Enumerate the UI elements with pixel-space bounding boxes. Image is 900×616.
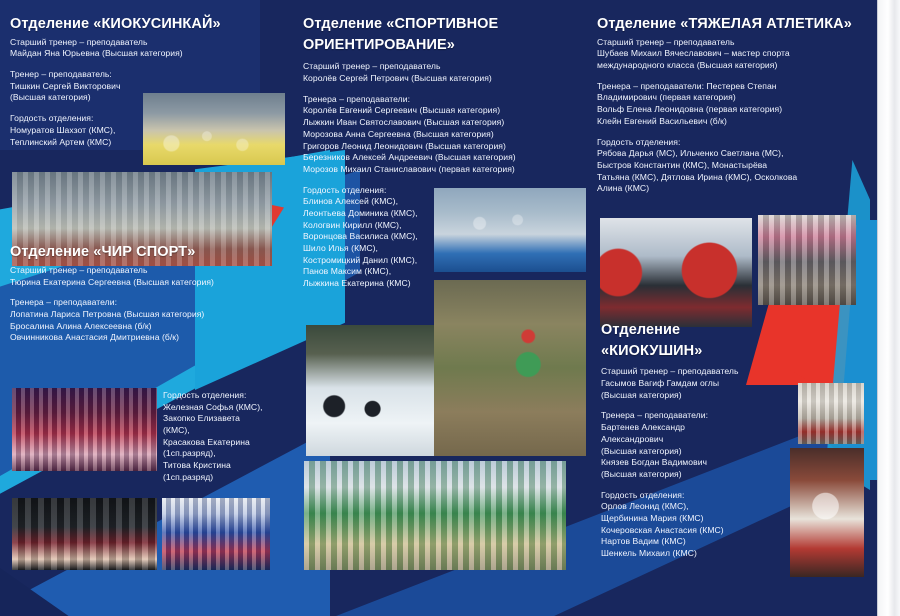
text-line: Тренера – преподаватели: Пестерев Степан bbox=[597, 81, 877, 93]
photo-cheer-blue bbox=[162, 498, 270, 570]
text-line: Тренера – преподаватели: bbox=[601, 410, 751, 422]
section-title-weightlifting: Отделение «ТЯЖЕЛАЯ АТЛЕТИКА» bbox=[597, 16, 877, 34]
text-line: Теплинский Артем (КМС) bbox=[10, 137, 285, 149]
text-line: Быстров Константин (КМС), Монастырёва bbox=[597, 160, 877, 172]
text-line: Алина (КМС) bbox=[597, 183, 877, 195]
text-line: Тренер – преподаватель: bbox=[10, 69, 285, 81]
text-line: Владимирович (первая категория) bbox=[597, 92, 877, 104]
text-line: Александрович bbox=[601, 434, 751, 446]
text-line: Тренера – преподаватели: bbox=[303, 94, 578, 106]
pride-block-kyokushin: Гордость отделения: Орлов Леонид (КМС), … bbox=[601, 490, 791, 560]
text-line: Гордость отделения: bbox=[10, 113, 285, 125]
text-line: международного класса (Высшая категория) bbox=[597, 60, 877, 72]
text-line: Панов Максим (КМС), bbox=[303, 266, 431, 278]
coaches-block-sport-orienteering: Тренера – преподаватели: Королёв Евгений… bbox=[303, 94, 578, 176]
text-line: Шило Илья (КМС), bbox=[303, 243, 431, 255]
text-line: Гордость отделения: bbox=[597, 137, 877, 149]
text-line: Красакова Екатерина bbox=[163, 437, 293, 449]
pride-block-cheer-sport: Гордость отделения: Железная Софья (КМС)… bbox=[163, 390, 293, 484]
head-coach-block-kyokushin: Старший тренер – преподаватель Гасымов В… bbox=[601, 366, 806, 401]
text-line: Морозова Анна Сергеевна (Высшая категори… bbox=[303, 129, 578, 141]
head-coach-block-sport-orienteering: Старший тренер – преподаватель Королёв С… bbox=[303, 61, 578, 84]
text-line: Королёв Евгений Сергеевич (Высшая катего… bbox=[303, 105, 578, 117]
text-line: Майдан Яна Юрьевна (Высшая категория) bbox=[10, 48, 285, 60]
text-line: Королёв Сергей Петрович (Высшая категори… bbox=[303, 73, 578, 85]
coaches-block-cheer-sport: Тренера – преподаватели: Лопатина Лариса… bbox=[10, 297, 285, 344]
column-middle: Отделение «СПОРТИВНОЕ ОРИЕНТИРОВАНИЕ» Ст… bbox=[303, 16, 578, 299]
text-line: Татьяна (КМС), Дятлова Ирина (КМС), Оско… bbox=[597, 172, 877, 184]
text-line: Блинов Алексей (КМС), bbox=[303, 196, 431, 208]
text-line: Тренера – преподаватели: bbox=[10, 297, 285, 309]
text-line: Клейн Евгений Васильевич (б/к) bbox=[597, 116, 877, 128]
text-line: Орлов Леонид (КМС), bbox=[601, 501, 791, 513]
text-line: Рябова Дарья (МС), Ильченко Светлана (МС… bbox=[597, 148, 877, 160]
photo-kyokushin-hall bbox=[798, 383, 864, 444]
photo-weightlifting-group bbox=[758, 215, 856, 305]
text-line: (1сп.разряд), bbox=[163, 448, 293, 460]
text-line: (Высшая категория) bbox=[601, 390, 806, 402]
pride-block-weightlifting: Гордость отделения: Рябова Дарья (МС), И… bbox=[597, 137, 877, 195]
section-title-sport-orienteering-line1: Отделение «СПОРТИВНОЕ bbox=[303, 16, 578, 34]
photo-orient-ski bbox=[306, 325, 434, 456]
text-line: Князев Богдан Вадимович bbox=[601, 457, 751, 469]
text-line: Титова Кристина bbox=[163, 460, 293, 472]
coaches-block-kyokushin: Тренера – преподаватели: Бартенев Алекса… bbox=[601, 410, 751, 480]
text-line: Старший тренер – преподаватель bbox=[303, 61, 578, 73]
section-title-sport-orienteering-line2: ОРИЕНТИРОВАНИЕ» bbox=[303, 37, 578, 55]
photo-weightlifting bbox=[600, 218, 752, 327]
text-line: Номуратов Шахзот (КМС), bbox=[10, 125, 285, 137]
text-line: (Высшая категория) bbox=[601, 446, 751, 458]
text-line: Гордость отделения: bbox=[601, 490, 791, 502]
section-weightlifting: Отделение «ТЯЖЕЛАЯ АТЛЕТИКА» Старший тре… bbox=[597, 16, 877, 195]
text-line: (1сп.разряд) bbox=[163, 472, 293, 484]
text-line: Нартов Вадим (КМС) bbox=[601, 536, 791, 548]
text-line: (Высшая категория) bbox=[10, 92, 285, 104]
brochure-page: Отделение «КИОКУСИНКАЙ» Старший тренер –… bbox=[0, 0, 900, 616]
section-title-kyokushin-line2: «КИОКУШИН» bbox=[601, 343, 806, 361]
text-line: Бросалина Алина Алексеевна (б/к) bbox=[10, 321, 285, 333]
section-cheer-sport: Отделение «ЧИР СПОРТ» Старший тренер – п… bbox=[10, 244, 285, 344]
text-line: Старший тренер – преподаватель bbox=[597, 37, 877, 49]
text-line: (Высшая категория) bbox=[601, 469, 751, 481]
coaches-block-weightlifting: Тренера – преподаватели: Пестерев Степан… bbox=[597, 81, 877, 128]
text-line: Кологвин Кирилл (КМС), bbox=[303, 220, 431, 232]
column-right: Отделение «ТЯЖЕЛАЯ АТЛЕТИКА» Старший тре… bbox=[597, 16, 877, 204]
text-line: Шенкель Михаил (КМС) bbox=[601, 548, 791, 560]
text-line: Костромицкий Данил (КМС), bbox=[303, 255, 431, 267]
photo-orient-runner bbox=[434, 280, 586, 456]
text-line: Леонтьева Доминика (КМС), bbox=[303, 208, 431, 220]
text-line: (КМС), bbox=[163, 425, 293, 437]
text-line: Лопатина Лариса Петровна (Высшая категор… bbox=[10, 309, 285, 321]
text-line: Лыжкина Екатерина (КМС) bbox=[303, 278, 431, 290]
section-kyokushinkai: Отделение «КИОКУСИНКАЙ» Старший тренер –… bbox=[10, 16, 285, 148]
head-coach-block-kyokushinkai: Старший тренер – преподаватель Майдан Ян… bbox=[10, 37, 285, 60]
text-line: Старший тренер – преподаватель bbox=[10, 37, 285, 49]
text-line: Шубаев Михаил Вячеславович – мастер спор… bbox=[597, 48, 877, 60]
text-line: Бартенев Александр bbox=[601, 422, 751, 434]
section-title-cheer-sport: Отделение «ЧИР СПОРТ» bbox=[10, 244, 285, 262]
text-line: Григоров Леонид Леонидович (Высшая катег… bbox=[303, 141, 578, 153]
photo-cheer-dark bbox=[12, 498, 157, 570]
coaches-block-kyokushinkai: Тренер – преподаватель: Тишкин Сергей Ви… bbox=[10, 69, 285, 104]
text-line: Гордость отделения: bbox=[303, 185, 431, 197]
text-line: Железная Софья (КМС), bbox=[163, 402, 293, 414]
pride-block-sport-orienteering: Гордость отделения: Блинов Алексей (КМС)… bbox=[303, 185, 431, 290]
text-line: Тишкин Сергей Викторович bbox=[10, 81, 285, 93]
text-line: Щербинина Мария (КМС) bbox=[601, 513, 791, 525]
text-line: Вольф Елена Леонидовна (первая категория… bbox=[597, 104, 877, 116]
pride-block-kyokushinkai: Гордость отделения: Номуратов Шахзот (КМ… bbox=[10, 113, 285, 148]
page-edge-strip bbox=[878, 0, 900, 616]
text-line: Кочеровская Анастасия (КМС) bbox=[601, 525, 791, 537]
text-line: Овчинникова Анастасия Дмитриевна (б/к) bbox=[10, 332, 285, 344]
text-line: Березников Алексей Андреевич (Высшая кат… bbox=[303, 152, 578, 164]
text-line: Гордость отделения: bbox=[163, 390, 293, 402]
text-line: Лыжкин Иван Святославович (Высшая катего… bbox=[303, 117, 578, 129]
photo-orient-team bbox=[304, 461, 566, 570]
text-line: Старший тренер – преподаватель bbox=[601, 366, 806, 378]
head-coach-block-cheer-sport: Старший тренер – преподаватель Тюрина Ек… bbox=[10, 265, 285, 288]
section-sport-orienteering: Отделение «СПОРТИВНОЕ ОРИЕНТИРОВАНИЕ» Ст… bbox=[303, 16, 578, 290]
section-title-kyokushinkai: Отделение «КИОКУСИНКАЙ» bbox=[10, 16, 285, 34]
text-line: Воронцова Василиса (КМС), bbox=[303, 231, 431, 243]
text-line: Гасымов Вагиф Гамдам оглы bbox=[601, 378, 806, 390]
photo-cheer-red bbox=[12, 388, 157, 471]
text-line: Тюрина Екатерина Сергеевна (Высшая катег… bbox=[10, 277, 285, 289]
column-left: Отделение «КИОКУСИНКАЙ» Старший тренер –… bbox=[10, 16, 285, 353]
section-kyokushin: Отделение «КИОКУШИН» Старший тренер – пр… bbox=[601, 322, 806, 569]
text-line: Закопко Елизавета bbox=[163, 413, 293, 425]
head-coach-block-weightlifting: Старший тренер – преподаватель Шубаев Ми… bbox=[597, 37, 877, 72]
section-title-kyokushin-line1: Отделение bbox=[601, 322, 806, 340]
text-line: Старший тренер – преподаватель bbox=[10, 265, 285, 277]
text-line: Морозов Михаил Станиславович (первая кат… bbox=[303, 164, 578, 176]
